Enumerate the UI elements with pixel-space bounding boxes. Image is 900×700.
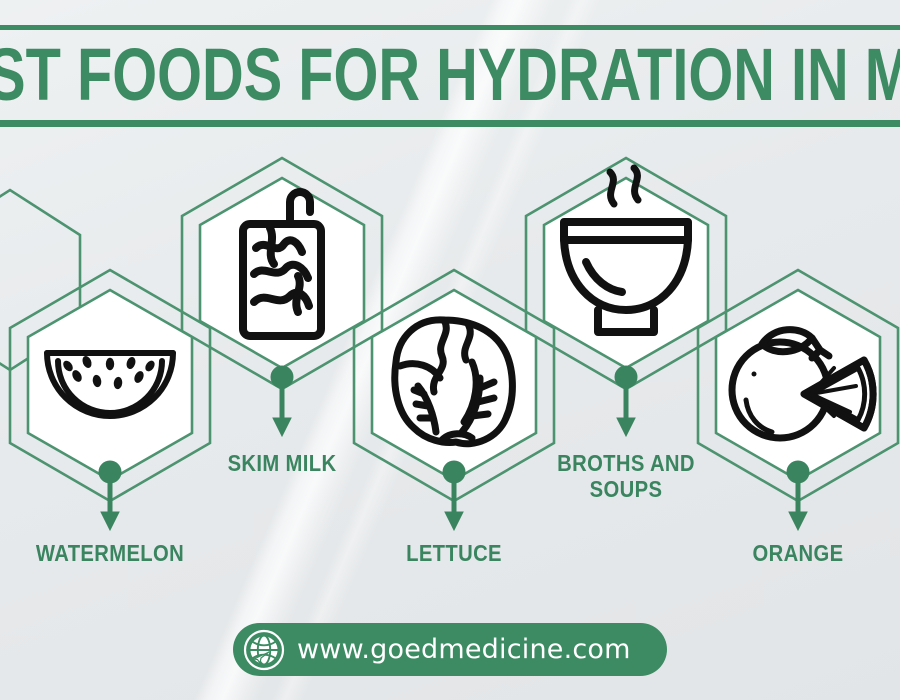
label-lettuce-text: LETTUCE — [406, 540, 502, 566]
label-lettuce: LETTUCE — [400, 540, 509, 566]
label-broths-and-soups: BROTHS AND SOUPS — [548, 450, 704, 502]
label-orange: ORANGE — [746, 540, 849, 566]
hexagon-network — [0, 0, 900, 700]
globe-icon — [243, 629, 285, 671]
infographic-canvas: EST FOODS FOR HYDRATION IN ME — [0, 0, 900, 700]
label-skim-milk: SKIM MILK — [220, 450, 344, 476]
label-watermelon: WATERMELON — [26, 540, 194, 566]
connector-broths-and-soups — [615, 366, 637, 436]
label-orange-text: ORANGE — [753, 540, 844, 566]
label-skim-milk-text: SKIM MILK — [228, 450, 337, 476]
label-watermelon-text: WATERMELON — [36, 540, 184, 566]
connector-skim-milk — [271, 366, 293, 436]
label-broths-and-soups-text: BROTHS AND SOUPS — [557, 450, 695, 502]
website-pill[interactable]: www.goedmedicine.com — [233, 623, 667, 676]
website-url: www.goedmedicine.com — [297, 634, 631, 665]
